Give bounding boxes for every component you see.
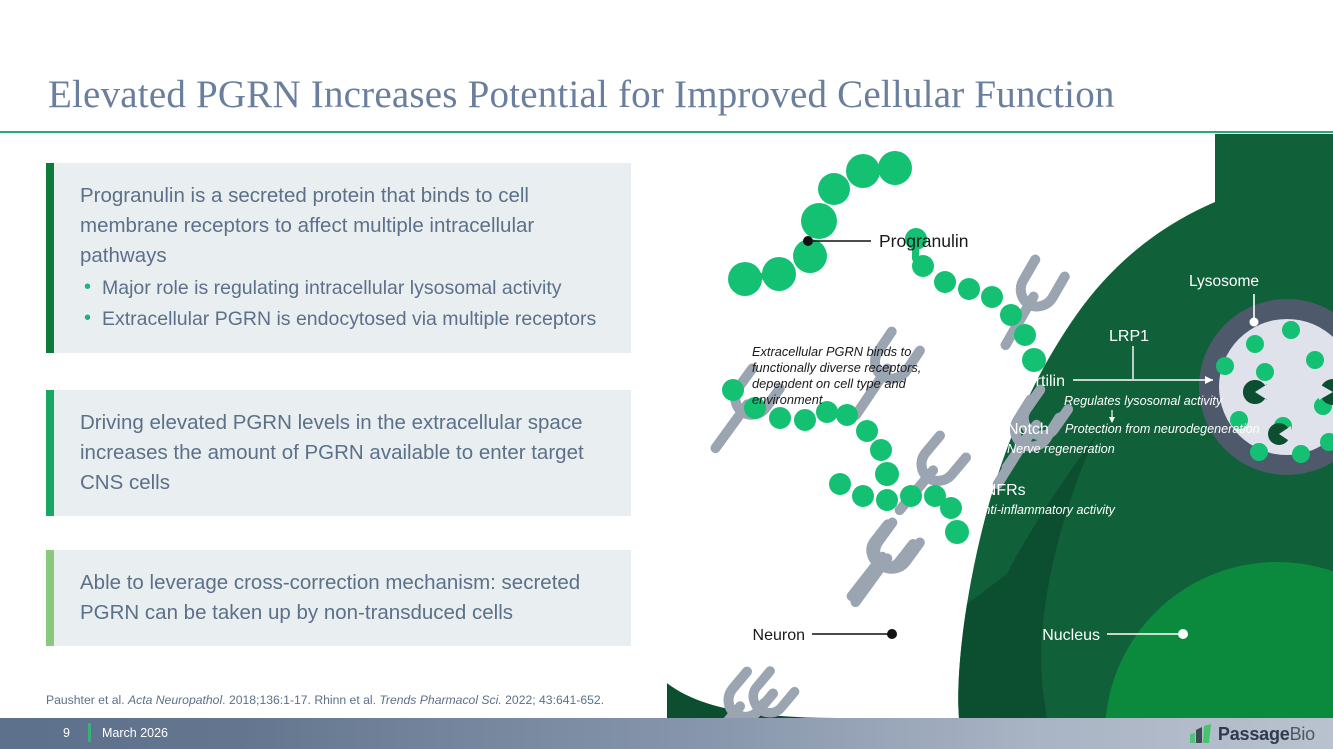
label-lysosome: Lysosome (1189, 273, 1259, 290)
footer-date: March 2026 (102, 726, 168, 740)
callout-bullet-list-1: Major role is regulating intracellular l… (80, 273, 609, 335)
callout-text-3: Able to leverage cross-correction mechan… (80, 568, 609, 628)
logo-text-bold: Passage (1218, 724, 1290, 744)
list-item: Extracellular PGRN is endocytosed via mu… (80, 304, 609, 335)
callout-text-2: Driving elevated PGRN levels in the extr… (80, 408, 609, 498)
svg-text:Extracellular PGRN binds to: Extracellular PGRN binds to (752, 344, 911, 359)
citation-journal-2: Trends Pharmacol Sci. (379, 693, 501, 707)
callout-body-3: Able to leverage cross-correction mechan… (54, 550, 631, 646)
label-progranulin: Progranulin (879, 231, 969, 251)
passage-bio-logo: PassageBio (1190, 722, 1315, 746)
callout-text-1: Progranulin is a secreted protein that b… (80, 181, 609, 271)
title-divider (0, 131, 1333, 133)
label-tnfrs: TNFRs (975, 482, 1026, 499)
footer-bar (0, 718, 1333, 749)
label-sortilin-sub1: Regulates lysosomal activity (1064, 394, 1223, 408)
label-sortilin-sub2: Protection from neurodegeneration (1065, 422, 1260, 436)
callout-box-1: Progranulin is a secreted protein that b… (46, 163, 631, 353)
callout-body-1: Progranulin is a secreted protein that b… (54, 163, 631, 353)
callout-box-2: Driving elevated PGRN levels in the extr… (46, 390, 631, 516)
callout-body-2: Driving elevated PGRN levels in the extr… (54, 390, 631, 516)
svg-text:functionally diverse receptors: functionally diverse receptors, (752, 360, 921, 375)
logo-mark-icon (1190, 724, 1211, 744)
list-item: Major role is regulating intracellular l… (80, 273, 609, 304)
svg-text:dependent on cell type and: dependent on cell type and (752, 376, 907, 391)
neuron-diagram: Progranulin Extracellular PGRN binds to … (667, 134, 1333, 718)
citation-suffix: 2022; 43:641-652. (502, 693, 604, 707)
callout-box-3: Able to leverage cross-correction mechan… (46, 550, 631, 646)
label-notch: Notch (1007, 421, 1049, 438)
citation-journal-1: Acta Neuropathol (128, 693, 222, 707)
callout-accent-bar-1 (46, 163, 54, 353)
slide: Elevated PGRN Increases Potential for Im… (0, 0, 1333, 749)
label-notch-sub: Nerve regeneration (1007, 442, 1115, 456)
page-title: Elevated PGRN Increases Potential for Im… (48, 72, 1198, 117)
svg-text:environment: environment (752, 392, 823, 407)
slide-number: 9 (63, 726, 70, 740)
citation: Paushter et al. Acta Neuropathol. 2018;1… (46, 692, 666, 708)
label-nucleus: Nucleus (1042, 627, 1100, 644)
footer-separator (88, 723, 91, 742)
logo-text: PassageBio (1218, 724, 1315, 745)
label-sortilin: Sortilin (1016, 373, 1065, 390)
label-neuron: Neuron (753, 627, 805, 644)
citation-mid: . 2018;136:1-17. Rhinn et al. (222, 693, 379, 707)
label-lrp1: LRP1 (1109, 328, 1149, 345)
callout-accent-bar-3 (46, 550, 54, 646)
label-tnfrs-sub: Anti-inflammatory activity (974, 503, 1116, 517)
callout-accent-bar-2 (46, 390, 54, 516)
citation-prefix: Paushter et al. (46, 693, 128, 707)
logo-text-light: Bio (1290, 724, 1315, 744)
